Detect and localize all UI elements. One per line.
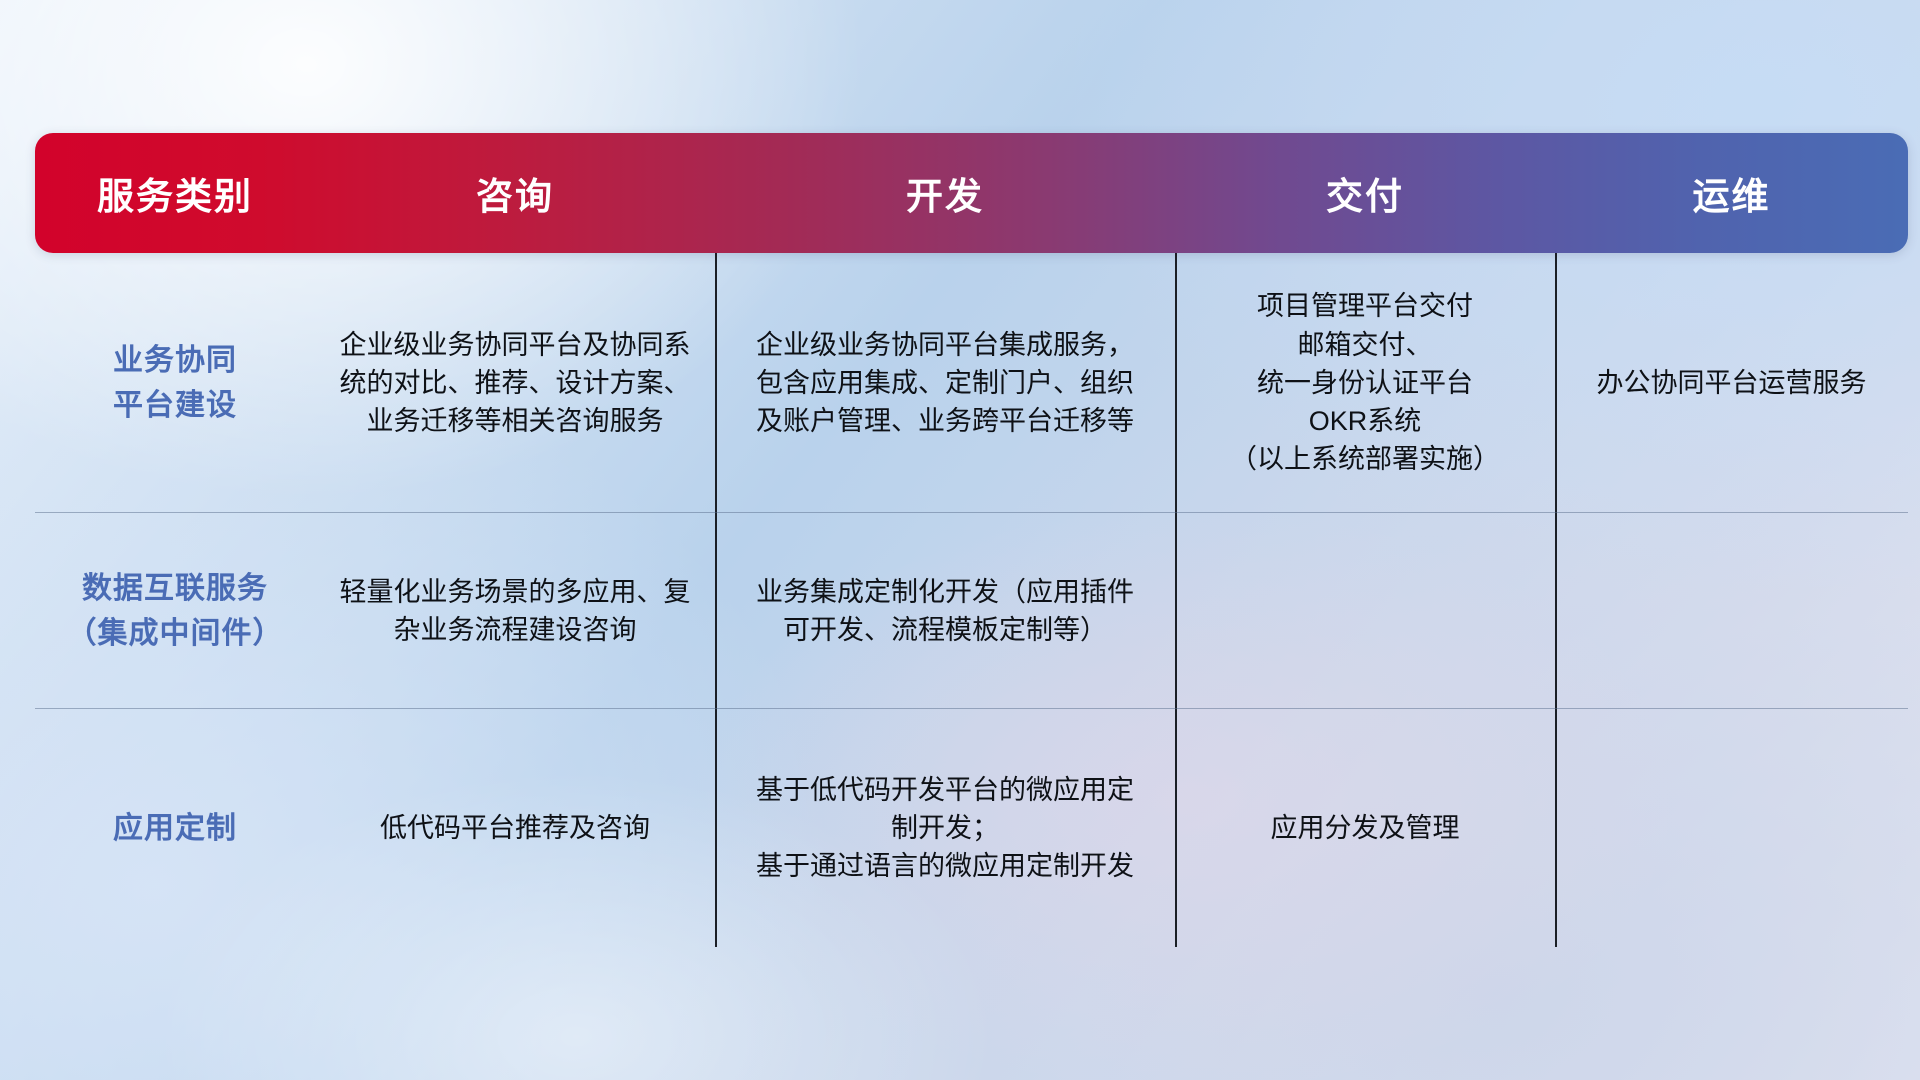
column-header-delivery: 交付: [1175, 166, 1555, 220]
cell-operations-row3: [1555, 709, 1908, 947]
table-row: 数据互联服务 （集成中间件） 轻量化业务场景的多应用、复 杂业务流程建设咨询 业…: [35, 513, 1908, 709]
cell-consulting-row3: 低代码平台推荐及咨询: [315, 709, 715, 947]
cell-development-row2: 业务集成定制化开发（应用插件 可开发、流程模板定制等）: [715, 513, 1175, 709]
cell-consulting-row2: 轻量化业务场景的多应用、复 杂业务流程建设咨询: [315, 513, 715, 709]
column-header-operations: 运维: [1555, 166, 1908, 220]
cell-development-row1: 企业级业务协同平台集成服务， 包含应用集成、定制门户、组织 及账户管理、业务跨平…: [715, 253, 1175, 513]
row-label-business-collaboration: 业务协同 平台建设: [35, 253, 315, 513]
column-divider-3: [1555, 253, 1557, 513]
column-divider-1: [715, 513, 717, 709]
column-divider-3: [1555, 513, 1557, 709]
column-divider-2: [1175, 513, 1177, 709]
column-divider-1: [715, 709, 717, 947]
column-header-category: 服务类别: [35, 166, 315, 220]
cell-delivery-row1: 项目管理平台交付 邮箱交付、 统一身份认证平台 OKR系统 （以上系统部署实施）: [1175, 253, 1555, 513]
column-header-development: 开发: [715, 166, 1175, 220]
cell-consulting-row1: 企业级业务协同平台及协同系 统的对比、推荐、设计方案、 业务迁移等相关咨询服务: [315, 253, 715, 513]
cell-delivery-row3: 应用分发及管理: [1175, 709, 1555, 947]
table-row: 业务协同 平台建设 企业级业务协同平台及协同系 统的对比、推荐、设计方案、 业务…: [35, 253, 1908, 513]
column-divider-3: [1555, 709, 1557, 947]
cell-operations-row2: [1555, 513, 1908, 709]
cell-development-row3: 基于低代码开发平台的微应用定 制开发； 基于通过语言的微应用定制开发: [715, 709, 1175, 947]
row-label-data-interconnect: 数据互联服务 （集成中间件）: [35, 513, 315, 709]
cell-operations-row1: 办公协同平台运营服务: [1555, 253, 1908, 513]
cell-delivery-row2: [1175, 513, 1555, 709]
column-divider-2: [1175, 253, 1177, 513]
row-label-app-customization: 应用定制: [35, 709, 315, 947]
service-matrix-table: 服务类别 咨询 开发 交付 运维 业务协同 平台建设 企业级业务协同平台及协同系…: [35, 133, 1908, 963]
table-row: 应用定制 低代码平台推荐及咨询 基于低代码开发平台的微应用定 制开发； 基于通过…: [35, 709, 1908, 947]
table-body: 业务协同 平台建设 企业级业务协同平台及协同系 统的对比、推荐、设计方案、 业务…: [35, 253, 1908, 947]
column-header-consulting: 咨询: [315, 166, 715, 220]
column-divider-1: [715, 253, 717, 513]
table-header-row: 服务类别 咨询 开发 交付 运维: [35, 133, 1908, 253]
column-divider-2: [1175, 709, 1177, 947]
